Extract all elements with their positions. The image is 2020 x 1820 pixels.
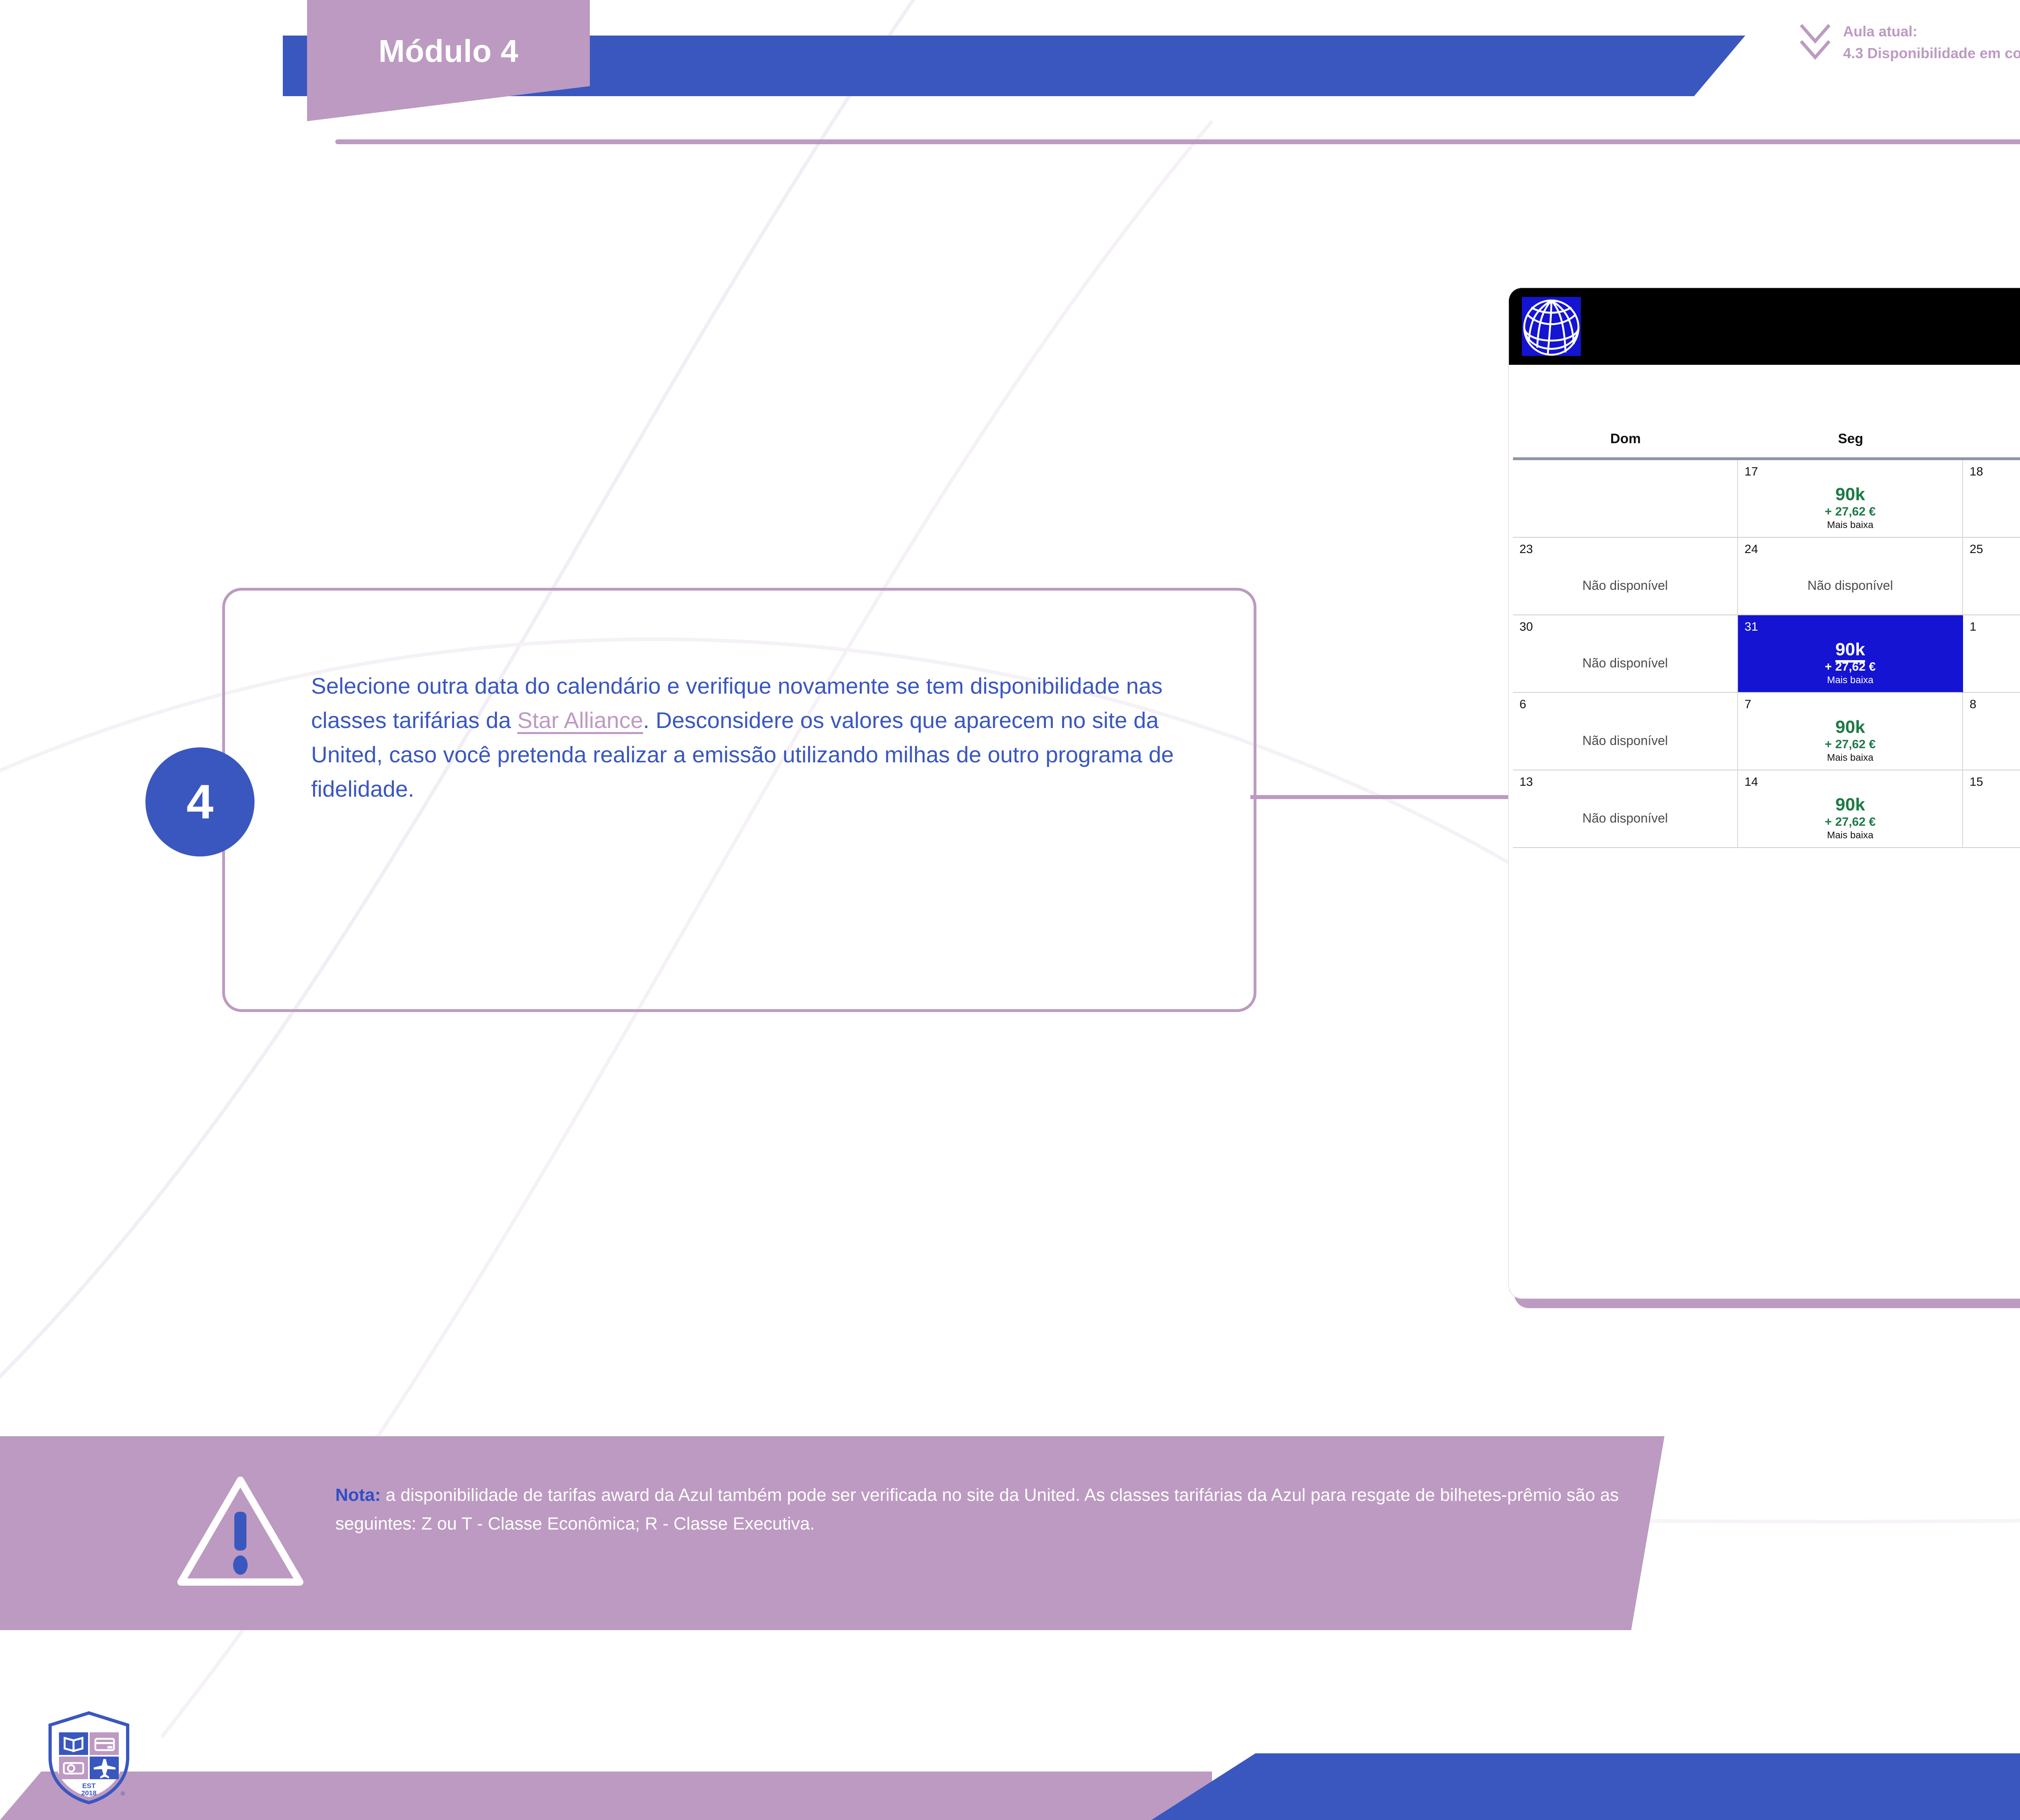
calendar-day-number: 6: [1519, 698, 1526, 711]
calendar-cell-day-15[interactable]: 15Não disponível: [1963, 770, 2020, 848]
calendar-day-header-0: Dom: [1513, 425, 1738, 457]
note-prefix: Nota:: [335, 1485, 381, 1505]
current-lesson-label: Aula atual:: [1843, 21, 2020, 42]
calendar-cell-day-23[interactable]: 23Não disponível: [1513, 538, 1738, 615]
calendar-cell-body: Não disponível: [1513, 634, 1737, 692]
calendar-cell-miles: 90k: [1835, 641, 1865, 659]
calendar-cell-day-18[interactable]: 18Não disponível: [1963, 460, 2020, 538]
note-text: Nota: a disponibilidade de tarifas award…: [335, 1481, 1648, 1538]
calendar-cell-day-14[interactable]: 1490k+ 27,62 €Mais baixa: [1738, 770, 1963, 848]
calendar-day-number: 1: [1970, 620, 1976, 634]
calendar-cell-body: 90k+ 27,62 €Mais baixa: [1738, 711, 1962, 770]
calendar-day-number: 23: [1519, 543, 1533, 556]
calendar-cell-day-13[interactable]: 13Não disponível: [1513, 770, 1738, 848]
footer-blue-band: [1151, 1753, 2020, 1820]
calendar-cell-unavailable: Não disponível: [1582, 578, 1668, 593]
calendar-cell-body: Não disponível: [1963, 711, 2020, 770]
calendar-date-navigation: 16/03 - 19/04/2025: [1509, 365, 2020, 425]
current-lesson-block[interactable]: Aula atual: 4.3 Disponibilidade em compa…: [1798, 20, 2020, 65]
calendar-cell-body: 90k+ 27,62 €Mais baixa: [1738, 634, 1962, 692]
calendar-day-header-1: Seg: [1738, 425, 1963, 457]
step-number-badge: 4: [145, 747, 255, 856]
calendar-cell-day-30[interactable]: 30Não disponível: [1513, 615, 1738, 693]
calendar-cell-body: 90k+ 27,62 €Mais baixa: [1738, 479, 1962, 537]
calendar-cell-body: Não disponível: [1513, 556, 1737, 614]
calendar-day-number: 18: [1970, 465, 1983, 479]
calendar-day-number: 25: [1970, 543, 1983, 556]
step-number: 4: [187, 774, 214, 830]
calendar-cell-lowest-tag: Mais baixa: [1827, 753, 1873, 763]
step-callout-text: Selecione outra data do calendário e ver…: [311, 669, 1200, 806]
united-calendar-card: Português - PT € 16/03 - 19/04/2025: [1509, 288, 2020, 1298]
calendar-day-header-2: Ter: [1963, 425, 2020, 457]
calendar-cell-unavailable: Não disponível: [1582, 811, 1668, 826]
calendar-cell-body: Não disponível: [1513, 789, 1737, 847]
footer-purple-band: [0, 1772, 1212, 1820]
calendar-cell-cash: + 27,62 €: [1825, 816, 1876, 828]
warning-triangle-icon: [174, 1471, 307, 1592]
calendar-cell-day-7[interactable]: 790k+ 27,62 €Mais baixa: [1738, 693, 1963, 770]
calendar-cell-body: Não disponível: [1963, 479, 2020, 537]
calendar-day-headers: DomSegTerQuaQuiSexSáb: [1509, 425, 2020, 457]
registered-mark: ®: [121, 1790, 125, 1797]
calendar-day-number: 24: [1744, 543, 1758, 556]
brand-shield-logo: EST 2018 ®: [44, 1709, 133, 1806]
module-label: Módulo 4: [379, 33, 518, 69]
united-topbar: Português - PT €: [1509, 288, 2020, 365]
calendar-cell-lowest-tag: Mais baixa: [1827, 520, 1873, 530]
calendar-day-number: 13: [1519, 775, 1533, 789]
calendar-cell-day-6[interactable]: 6Não disponível: [1513, 693, 1738, 770]
calendar-cell-lowest-tag: Mais baixa: [1827, 675, 1873, 685]
calendar-day-number: 7: [1744, 698, 1751, 711]
calendar-cell-body: Não disponível: [1513, 711, 1737, 770]
logo-year-text: 2018: [81, 1789, 97, 1797]
calendar-cell-day-24[interactable]: 24Não disponível: [1738, 538, 1963, 615]
calendar-day-number: 30: [1519, 620, 1533, 634]
calendar-cell-lowest-tag: Mais baixa: [1827, 831, 1873, 840]
calendar-grid: 1790k+ 27,62 €Mais baixa18Não disponível…: [1513, 460, 2020, 848]
calendar-cell-body: Não disponível: [1738, 556, 1962, 614]
calendar-cell-cash: + 27,62 €: [1825, 506, 1876, 518]
calendar-cell-day-1[interactable]: 1Não disponível: [1963, 615, 2020, 693]
calendar-cell-unavailable: Não disponível: [1807, 578, 1893, 593]
calendar-cell-body: Não disponível: [1963, 789, 2020, 847]
calendar-day-number: 31: [1744, 620, 1758, 634]
calendar-cell-body: 90k+ 27,62 €Mais baixa: [1738, 789, 1962, 847]
calendar-day-number: 15: [1970, 775, 1983, 789]
calendar-cell-unavailable: Não disponível: [1582, 656, 1668, 671]
calendar-day-number: 14: [1744, 775, 1758, 789]
current-lesson-title: 4.3 Disponibilidade em companhias da Sta…: [1843, 42, 2020, 64]
calendar-day-number: 17: [1744, 465, 1758, 479]
chevron-down-double-icon: [1798, 20, 1833, 65]
note-body: a disponibilidade de tarifas award da Az…: [335, 1485, 1619, 1534]
calendar-cell-day-31[interactable]: 3190k+ 27,62 €Mais baixa: [1738, 615, 1963, 693]
calendar-cell-cash: + 27,62 €: [1825, 739, 1876, 751]
module-tag: Módulo 4: [307, 0, 590, 121]
callout-connector-line: [1250, 795, 1513, 799]
calendar-cell-cash: + 27,62 €: [1825, 661, 1876, 673]
star-alliance-link[interactable]: Star Alliance: [517, 707, 643, 733]
calendar-header-separator: [1513, 457, 2020, 460]
calendar-cell-body: Não disponível: [1963, 634, 2020, 692]
calendar-day-number: 8: [1970, 698, 1976, 711]
calendar-cell-day-17[interactable]: 1790k+ 27,62 €Mais baixa: [1738, 460, 1963, 538]
calendar-cell-empty: [1513, 460, 1738, 538]
calendar-cell-day-8[interactable]: 8Não disponível: [1963, 693, 2020, 770]
calendar-cell-unavailable: Não disponível: [1582, 733, 1668, 748]
calendar-cell-day-25[interactable]: 25Não disponível: [1963, 538, 2020, 615]
calendar-cell-miles: 90k: [1835, 796, 1865, 814]
logo-est-text: EST: [82, 1782, 96, 1790]
calendar-cell-miles: 90k: [1835, 718, 1865, 736]
calendar-cell-miles: 90k: [1835, 486, 1865, 503]
header-divider-rule: [335, 139, 2020, 144]
united-globe-logo-icon[interactable]: [1522, 297, 1581, 356]
calendar-cell-body: Não disponível: [1963, 556, 2020, 614]
